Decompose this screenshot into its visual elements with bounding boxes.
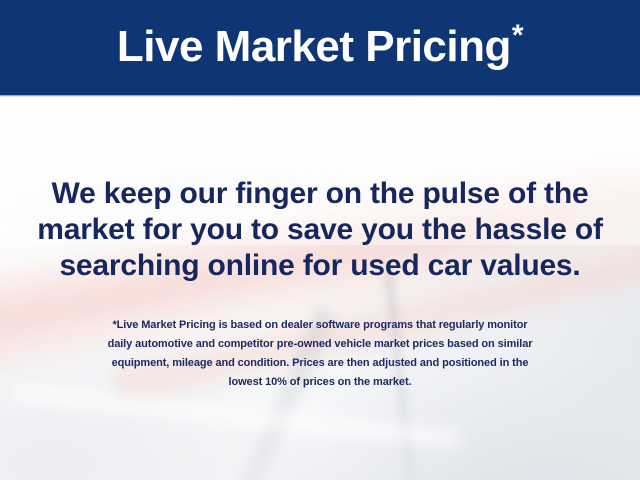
headline-line-1: We keep our finger on the pulse of the bbox=[0, 176, 640, 212]
live-market-pricing-banner: Live Market Pricing* We keep our finger … bbox=[0, 0, 640, 480]
page-title-asterisk: * bbox=[512, 19, 523, 52]
disclaimer-line-3: equipment, mileage and condition. Prices… bbox=[0, 354, 640, 373]
headline-line-2: market for you to save you the hassle of bbox=[0, 212, 640, 248]
header-divider bbox=[0, 95, 640, 97]
page-title: Live Market Pricing* bbox=[117, 25, 523, 71]
disclaimer-line-4: lowest 10% of prices on the market. bbox=[0, 373, 640, 392]
headline: We keep our finger on the pulse of the m… bbox=[0, 176, 640, 284]
disclaimer-line-2: daily automotive and competitor pre-owne… bbox=[0, 335, 640, 354]
headline-line-3: searching online for used car values. bbox=[0, 248, 640, 284]
disclaimer-line-1: *Live Market Pricing is based on dealer … bbox=[0, 316, 640, 335]
disclaimer: *Live Market Pricing is based on dealer … bbox=[0, 316, 640, 392]
header-band: Live Market Pricing* bbox=[0, 0, 640, 95]
page-title-text: Live Market Pricing bbox=[117, 22, 511, 71]
